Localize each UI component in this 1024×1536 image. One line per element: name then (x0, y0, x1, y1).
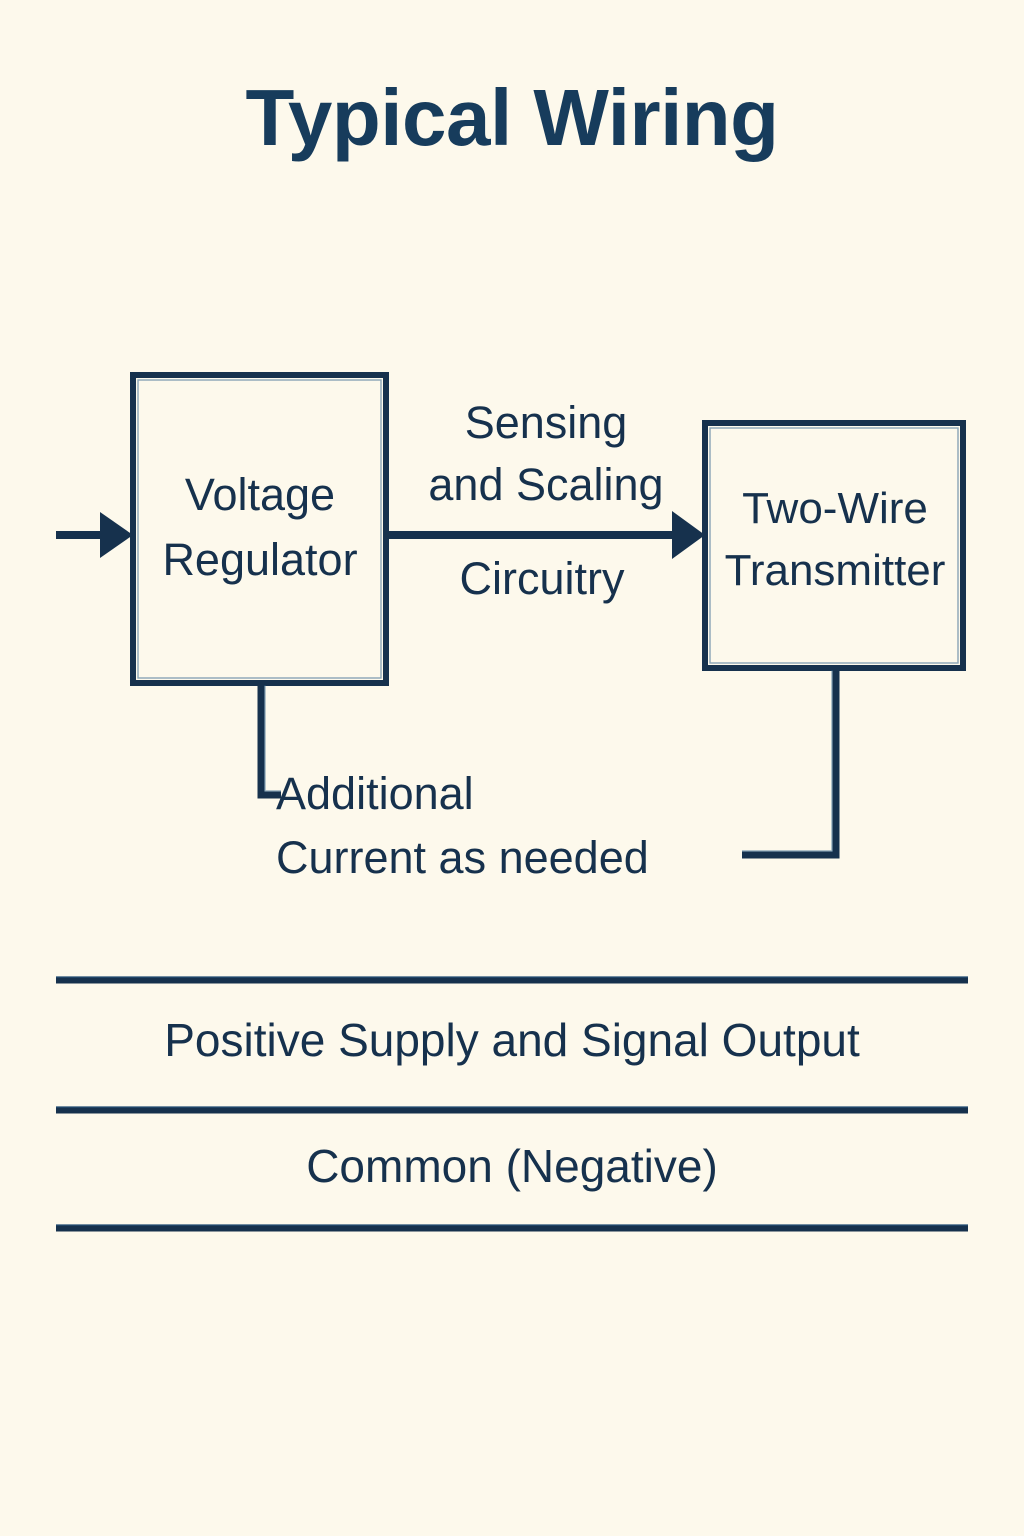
bus-rail-top (56, 977, 968, 980)
left-drop-wire-highlight (265, 685, 281, 791)
additional-current-wire-left (261, 681, 281, 795)
additional-current-wire-right (742, 666, 836, 855)
bus-rail-bottom (56, 1225, 968, 1228)
input-arrowhead (100, 512, 133, 558)
wiring-diagram-graphics (0, 0, 1024, 1536)
arrow-right-icon-input (56, 512, 133, 558)
bus-rail-middle (56, 1107, 968, 1110)
block-voltage-regulator-outline[interactable] (133, 375, 386, 683)
voltage-regulator-box-highlight (138, 380, 381, 678)
signal-arrowhead (672, 511, 705, 559)
voltage-regulator-box[interactable] (133, 375, 386, 683)
left-drop-wire (261, 681, 281, 795)
block-two-wire-transmitter-outline[interactable] (705, 423, 963, 668)
right-drop-wire (742, 666, 836, 855)
diagram-canvas: Typical Wiring (0, 0, 1024, 1536)
two-wire-transmitter-box[interactable] (705, 423, 963, 668)
two-wire-transmitter-box-highlight (710, 428, 958, 663)
arrow-right-icon-signal (386, 511, 705, 559)
right-drop-wire-highlight (742, 670, 832, 851)
